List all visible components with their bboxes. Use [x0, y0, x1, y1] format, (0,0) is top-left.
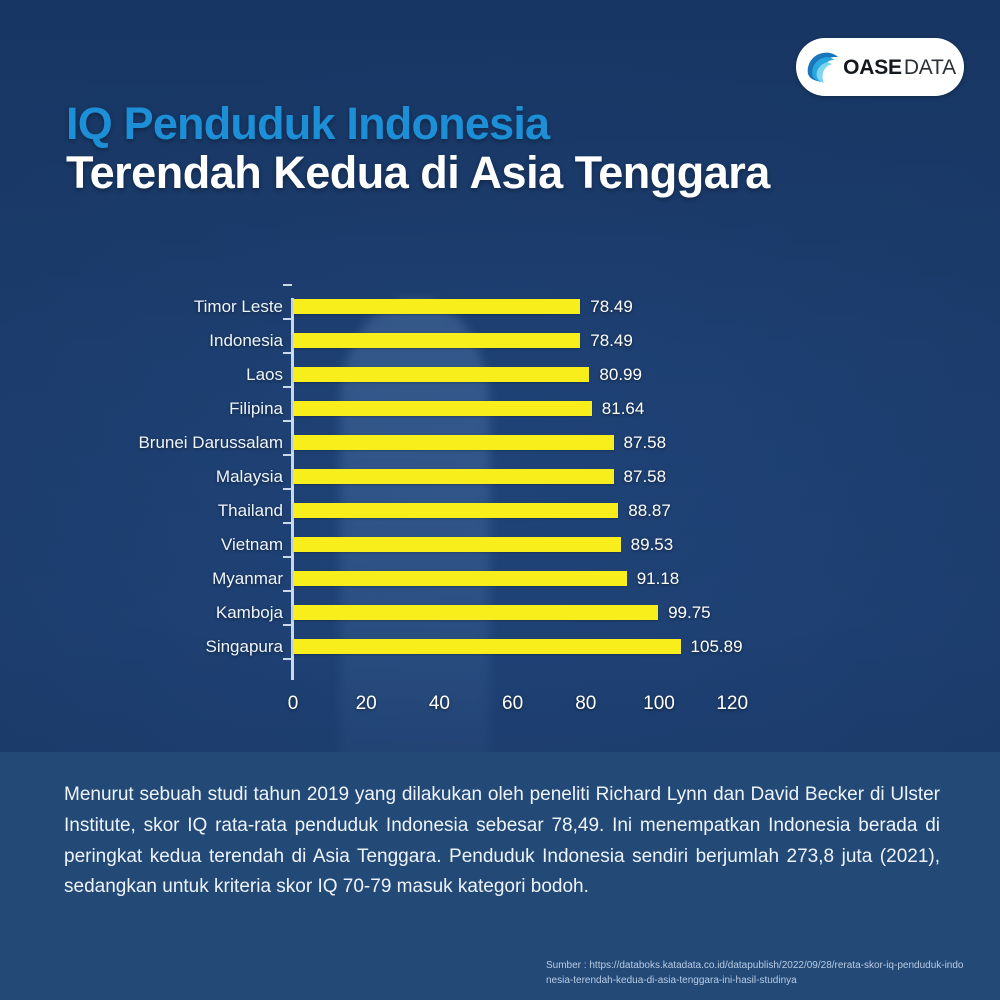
bar: [293, 435, 614, 450]
logo-text-oase: OASE: [843, 57, 902, 78]
svg-text:x²+y²: x²+y²: [120, 51, 181, 76]
y-axis-tick: [283, 454, 292, 456]
bar-value-label: 91.18: [637, 570, 680, 587]
category-label: Laos: [33, 366, 283, 383]
headline: IQ Penduduk Indonesia Terendah Kedua di …: [66, 100, 926, 198]
bar: [293, 401, 592, 416]
bar-value-label: 99.75: [668, 604, 711, 621]
bar: [293, 605, 658, 620]
category-label: Vietnam: [33, 536, 283, 553]
y-axis-tick: [283, 624, 292, 626]
description-panel: Menurut sebuah studi tahun 2019 yang dil…: [0, 752, 1000, 1000]
bar: [293, 469, 614, 484]
svg-text:y = ∛x +1: y = ∛x +1: [299, 210, 431, 242]
source-citation: Sumber : https://databoks.katadata.co.id…: [546, 959, 966, 988]
category-label: Malaysia: [33, 468, 283, 485]
y-axis-tick: [283, 420, 292, 422]
x-axis-tick-label: 100: [643, 694, 675, 713]
bar-value-label: 81.64: [602, 400, 645, 417]
x-axis-tick-label: 120: [716, 694, 748, 713]
category-label: Kamboja: [33, 604, 283, 621]
bar: [293, 367, 589, 382]
bar: [293, 299, 580, 314]
svg-text:α: α: [690, 196, 704, 220]
category-label-column: Timor LesteIndonesiaLaosFilipinaBrunei D…: [25, 292, 283, 684]
svg-text:a² x³: a² x³: [860, 246, 910, 271]
svg-text:x²+y²+z² = 76: x²+y²+z² = 76: [470, 215, 659, 245]
bar: [293, 639, 681, 654]
bar: [293, 571, 627, 586]
bar-value-label: 89.53: [631, 536, 674, 553]
iq-bar-chart: Timor LesteIndonesiaLaosFilipinaBrunei D…: [0, 292, 1000, 722]
bar-value-label: 88.87: [628, 502, 671, 519]
x-axis-tick-label: 60: [502, 694, 523, 713]
category-label: Thailand: [33, 502, 283, 519]
x-axis-tick-label: 80: [575, 694, 596, 713]
svg-text:x = tg t: x = tg t: [330, 253, 422, 281]
bar-value-label: 105.89: [691, 638, 743, 655]
category-label: Filipina: [33, 400, 283, 417]
bar: [293, 503, 618, 518]
bar-value-label: 78.49: [590, 332, 633, 349]
y-axis-tick: [283, 590, 292, 592]
logo-text-data: DATA: [904, 57, 956, 78]
bar: [293, 537, 621, 552]
x-axis-tick-labels: 020406080100120: [0, 680, 1000, 720]
y-axis-tick: [283, 488, 292, 490]
category-label: Indonesia: [33, 332, 283, 349]
category-label: Myanmar: [33, 570, 283, 587]
category-label: Brunei Darussalam: [33, 434, 283, 451]
svg-text:5 + 4/3 = 5¾: 5 + 4/3 = 5¾: [690, 216, 840, 241]
bar-value-label: 87.58: [624, 434, 667, 451]
page-title-line1: IQ Penduduk Indonesia: [66, 100, 926, 148]
bar-value-label: 78.49: [590, 298, 633, 315]
infographic-page: ∫ dx x²+y² (R-2)³ y = ∛x +1 x = tg t x²+…: [0, 0, 1000, 1000]
page-title-line2: Terendah Kedua di Asia Tenggara: [66, 148, 926, 198]
bar: [293, 333, 580, 348]
y-axis-tick: [283, 522, 292, 524]
x-axis-tick-label: 20: [356, 694, 377, 713]
bar-value-label: 80.99: [599, 366, 642, 383]
bar-value-label: 87.58: [624, 468, 667, 485]
category-label: Singapura: [33, 638, 283, 655]
y-axis-tick: [283, 658, 292, 660]
y-axis-tick: [283, 556, 292, 558]
description-paragraph: Menurut sebuah studi tahun 2019 yang dil…: [64, 780, 940, 903]
y-axis-tick: [283, 284, 292, 286]
oasedata-logo[interactable]: OASE DATA: [796, 38, 964, 96]
category-label: Timor Leste: [33, 298, 283, 315]
x-axis-tick-label: 40: [429, 694, 450, 713]
y-axis-tick: [283, 386, 292, 388]
x-axis-tick-label: 0: [288, 694, 299, 713]
svg-text:10 2√6: 10 2√6: [520, 253, 604, 281]
wave-swoosh-icon: [804, 50, 840, 84]
svg-text:(R-2)³: (R-2)³: [210, 228, 280, 256]
y-axis-tick: [283, 318, 292, 320]
y-axis-tick: [283, 352, 292, 354]
